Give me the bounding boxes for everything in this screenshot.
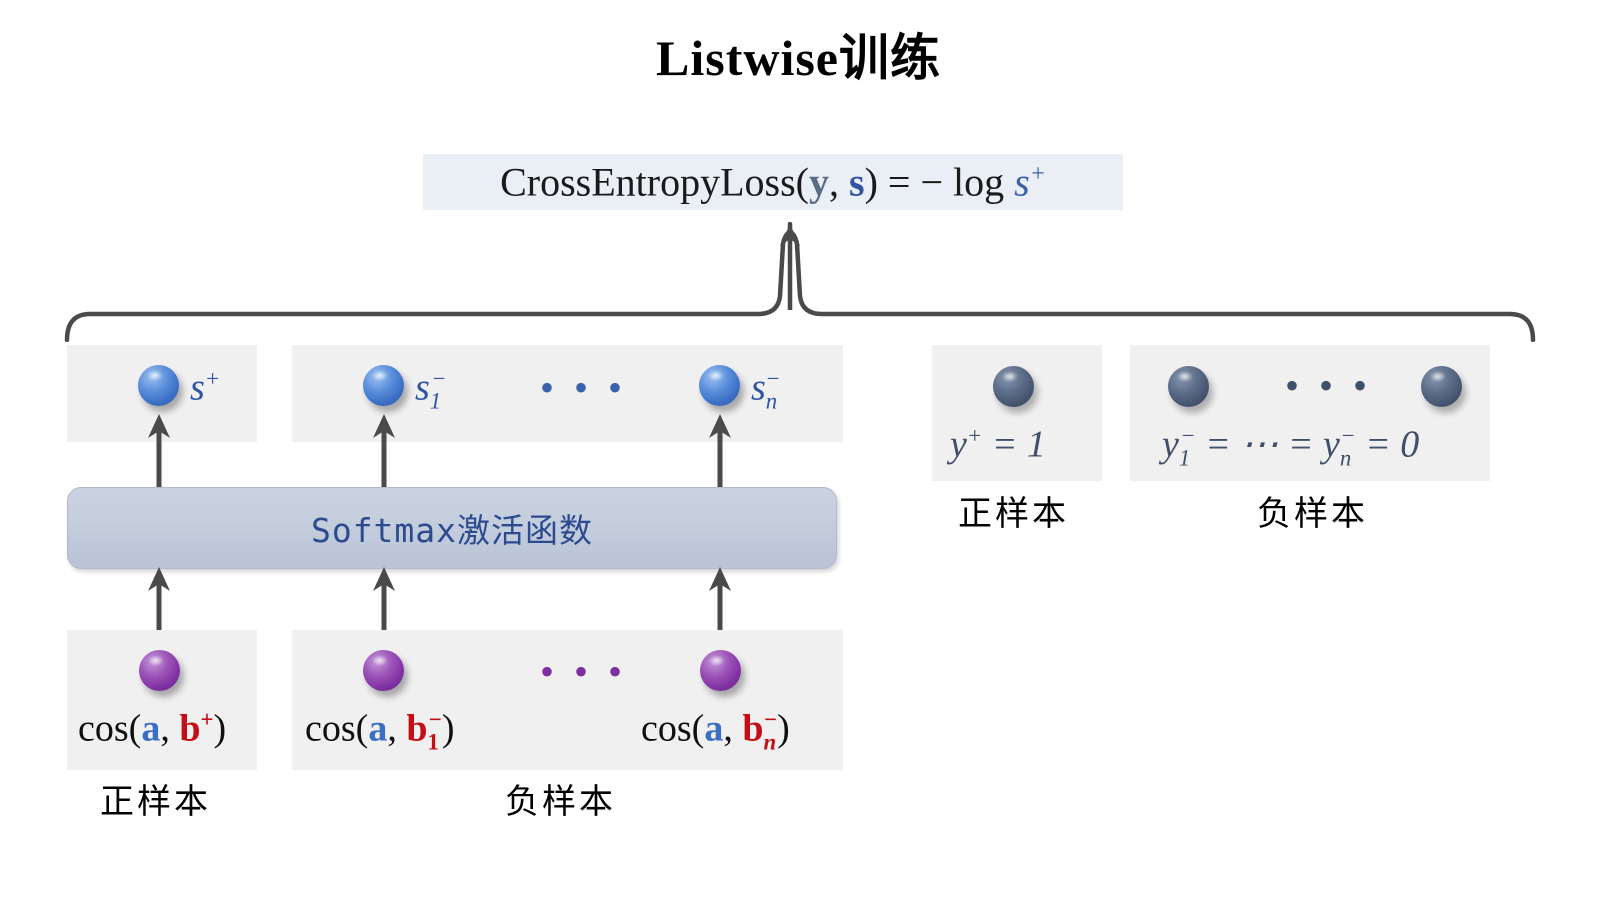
cos-ellipsis: • • •: [540, 652, 627, 692]
score-negative-last-sphere: [699, 365, 740, 406]
cos-positive-label: cos(a, b+): [78, 709, 226, 748]
cos-neg-last-fn: cos(: [641, 708, 704, 750]
cos-neg-first-subscript: 1: [427, 729, 438, 754]
cos-positive-sphere: [139, 650, 180, 691]
cos-neg-first-fn: cos(: [305, 708, 368, 750]
score-negative-first-sphere: [363, 365, 404, 406]
caption-label-negative: 负样本: [1257, 498, 1368, 532]
cos-neg-last-vector-a: a: [704, 708, 723, 750]
arrow-softmax-to-score-negative-last: [704, 412, 736, 490]
score-ellipsis: • • •: [540, 368, 627, 408]
arrow-softmax-to-score-negative-first: [368, 412, 400, 490]
score-positive-superscript: +: [205, 366, 220, 391]
label-negative-last-sphere: [1421, 366, 1462, 407]
cos-neg-first-close: ): [442, 708, 455, 750]
loss-score-superscript: +: [1030, 161, 1046, 187]
score-neg-last-subscript: n: [766, 388, 777, 413]
cos-neg-first-vector-a: a: [368, 708, 387, 750]
score-neg-first-base: s: [415, 367, 430, 409]
cos-neg-last-subscript: n: [763, 729, 776, 754]
cos-pos-close: ): [213, 708, 226, 750]
diagram-canvas: Listwise训练 CrossEntropyLoss(y, s) = − lo…: [0, 0, 1597, 902]
cos-neg-last-close: ): [777, 708, 790, 750]
score-neg-first-subscript: 1: [430, 388, 441, 413]
loss-prefix: CrossEntropyLoss(: [500, 159, 809, 204]
label-positive-sphere: [993, 366, 1034, 407]
caption-cos-negative: 负样本: [505, 786, 616, 820]
cos-neg-last-vector-b: b: [742, 708, 763, 750]
loss-middle: ) = − log: [865, 159, 1015, 204]
label-neg-subscript1: 1: [1179, 445, 1190, 470]
arrow-softmax-to-score-positive: [143, 412, 175, 490]
cos-neg-last-sep: ,: [723, 708, 742, 750]
label-negative-equation: y1− = ⋯ = yn− = 0: [1162, 425, 1419, 470]
softmax-label: Softmax激活函数: [311, 504, 593, 552]
score-neg-last-base: s: [751, 367, 766, 409]
score-negative-last-label: sn−: [751, 368, 781, 413]
cos-pos-vector-a: a: [141, 708, 160, 750]
label-neg-subscript2: n: [1340, 445, 1351, 470]
score-neg-first-superscript: −: [431, 366, 446, 391]
caption-cos-positive: 正样本: [100, 786, 211, 820]
score-negative-first-label: s1−: [415, 368, 447, 413]
loss-vector-s: s: [849, 159, 865, 204]
cos-pos-fn: cos(: [78, 708, 141, 750]
label-positive-equation: y+ = 1: [950, 425, 1046, 464]
cos-negative-last-sphere: [700, 650, 741, 691]
label-neg-superscript2: −: [1340, 423, 1355, 448]
label-pos-base: y: [950, 424, 967, 466]
cos-negative-first-sphere: [363, 650, 404, 691]
loss-formula-box: CrossEntropyLoss(y, s) = − log s+: [423, 154, 1123, 210]
loss-vector-y: y: [809, 159, 829, 204]
cos-negative-first-label: cos(a, b1−): [305, 709, 455, 754]
label-negative-first-sphere: [1168, 366, 1209, 407]
loss-formula-text: CrossEntropyLoss(y, s) = − log s+: [500, 162, 1046, 202]
cos-neg-last-superscript: −: [764, 707, 777, 732]
score-neg-last-superscript: −: [765, 366, 780, 391]
loss-score-s: s: [1014, 159, 1030, 204]
score-positive-label: s+: [190, 368, 220, 407]
score-positive-sphere: [138, 365, 179, 406]
label-ellipsis: • • •: [1285, 366, 1372, 406]
label-neg-middle: = ⋯ =: [1196, 424, 1323, 466]
cos-neg-first-sep: ,: [387, 708, 406, 750]
label-neg-base2: y: [1323, 424, 1340, 466]
softmax-activation-block[interactable]: Softmax激活函数: [67, 487, 837, 569]
cos-neg-first-vector-b: b: [406, 708, 427, 750]
loss-comma: ,: [829, 159, 849, 204]
score-positive-base: s: [190, 367, 205, 409]
page-title: Listwise训练: [0, 18, 1597, 90]
caption-label-positive: 正样本: [958, 498, 1069, 532]
cos-neg-first-superscript: −: [429, 707, 442, 732]
cos-pos-superscript: +: [200, 707, 213, 732]
cos-pos-vector-b: b: [179, 708, 200, 750]
label-pos-superscript: +: [967, 423, 982, 448]
arrow-to-loss: [760, 222, 820, 312]
cos-negative-last-label: cos(a, bn−): [641, 709, 790, 754]
label-neg-value: = 0: [1356, 424, 1420, 466]
cos-pos-sep: ,: [160, 708, 179, 750]
label-neg-superscript1: −: [1180, 423, 1195, 448]
label-neg-base1: y: [1162, 424, 1179, 466]
label-pos-value: = 1: [982, 424, 1046, 466]
